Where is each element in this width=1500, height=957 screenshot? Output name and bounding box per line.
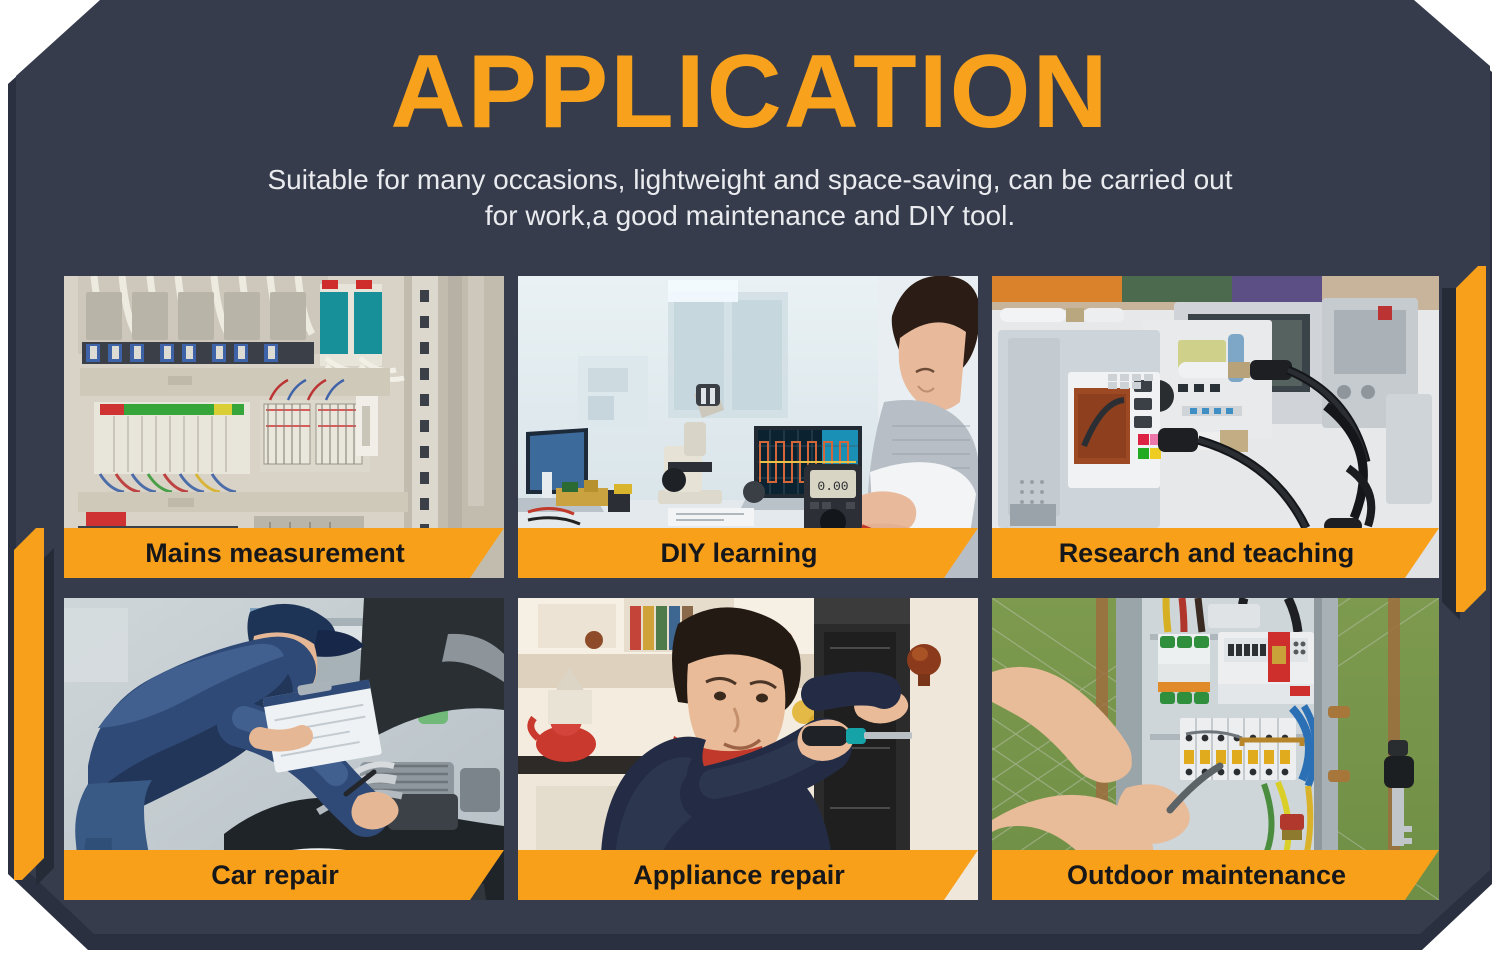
application-tile-grid: Mains measurement bbox=[64, 276, 1438, 902]
tile-diy-learning[interactable]: 0.00 bbox=[518, 276, 978, 578]
tile-caption: Research and teaching bbox=[992, 528, 1439, 578]
tile-caption: DIY learning bbox=[518, 528, 978, 578]
page-subtitle: Suitable for many occasions, lightweight… bbox=[250, 162, 1250, 234]
page-title: APPLICATION bbox=[0, 36, 1500, 148]
tile-caption: Outdoor maintenance bbox=[992, 850, 1439, 900]
left-accent-strip bbox=[14, 528, 44, 880]
tile-mains-measurement[interactable]: Mains measurement bbox=[64, 276, 504, 578]
tile-caption: Car repair bbox=[64, 850, 504, 900]
banner-header: APPLICATION Suitable for many occasions,… bbox=[0, 36, 1500, 234]
tile-outdoor-maintenance[interactable]: Outdoor maintenance bbox=[992, 598, 1439, 900]
tile-appliance-repair[interactable]: Appliance repair bbox=[518, 598, 978, 900]
tile-research-teaching[interactable]: Research and teaching bbox=[992, 276, 1439, 578]
tile-caption: Appliance repair bbox=[518, 850, 978, 900]
tile-caption: Mains measurement bbox=[64, 528, 504, 578]
right-accent-strip bbox=[1456, 266, 1486, 612]
application-banner: APPLICATION Suitable for many occasions,… bbox=[0, 0, 1500, 957]
tile-car-repair[interactable]: Car repair bbox=[64, 598, 504, 900]
svg-text:0.00: 0.00 bbox=[817, 479, 848, 494]
